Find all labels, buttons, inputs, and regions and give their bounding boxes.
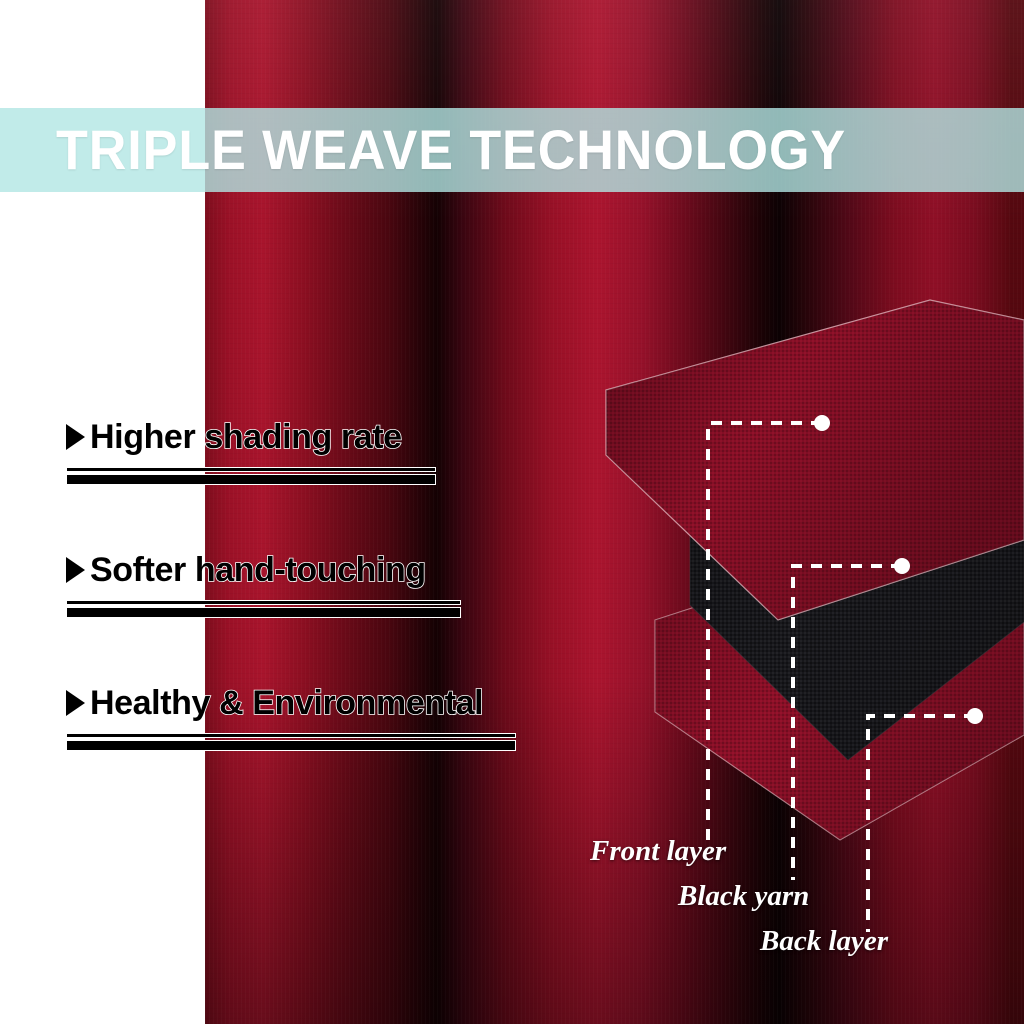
feature-underline xyxy=(66,600,461,618)
diagram-label-back-layer: Back layer xyxy=(760,925,888,958)
underline-thick xyxy=(66,474,436,485)
underline-thin xyxy=(66,467,436,472)
feature-item-softer-hand-touching: Softer hand-touching xyxy=(66,547,586,618)
feature-underline xyxy=(66,467,436,485)
feature-item-healthy-environmental: Healthy & Environmental xyxy=(66,680,586,751)
feature-heading: Higher shading rate xyxy=(66,414,586,460)
underline-thick xyxy=(66,607,461,618)
underline-thick xyxy=(66,740,516,751)
triangle-right-icon xyxy=(66,424,85,450)
feature-heading: Softer hand-touching xyxy=(66,547,586,593)
feature-list: Higher shading rate Softer hand-touching… xyxy=(66,414,586,813)
triangle-right-icon xyxy=(66,557,85,583)
diagram-label-front-layer: Front layer xyxy=(590,835,726,868)
feature-label: Healthy & Environmental xyxy=(90,684,483,723)
feature-underline xyxy=(66,733,516,751)
feature-label: Higher shading rate xyxy=(90,418,402,457)
diagram-label-black-yarn: Black yarn xyxy=(678,880,809,913)
page-title: TRIPLE WEAVE TECHNOLOGY xyxy=(56,122,846,178)
feature-heading: Healthy & Environmental xyxy=(66,680,586,726)
title-banner: TRIPLE WEAVE TECHNOLOGY xyxy=(0,108,1024,192)
feature-label: Softer hand-touching xyxy=(90,551,426,590)
underline-thin xyxy=(66,600,461,605)
underline-thin xyxy=(66,733,516,738)
feature-item-higher-shading-rate: Higher shading rate xyxy=(66,414,586,485)
triangle-right-icon xyxy=(66,690,85,716)
product-infographic: TRIPLE WEAVE TECHNOLOGY Higher shading r… xyxy=(0,0,1024,1024)
